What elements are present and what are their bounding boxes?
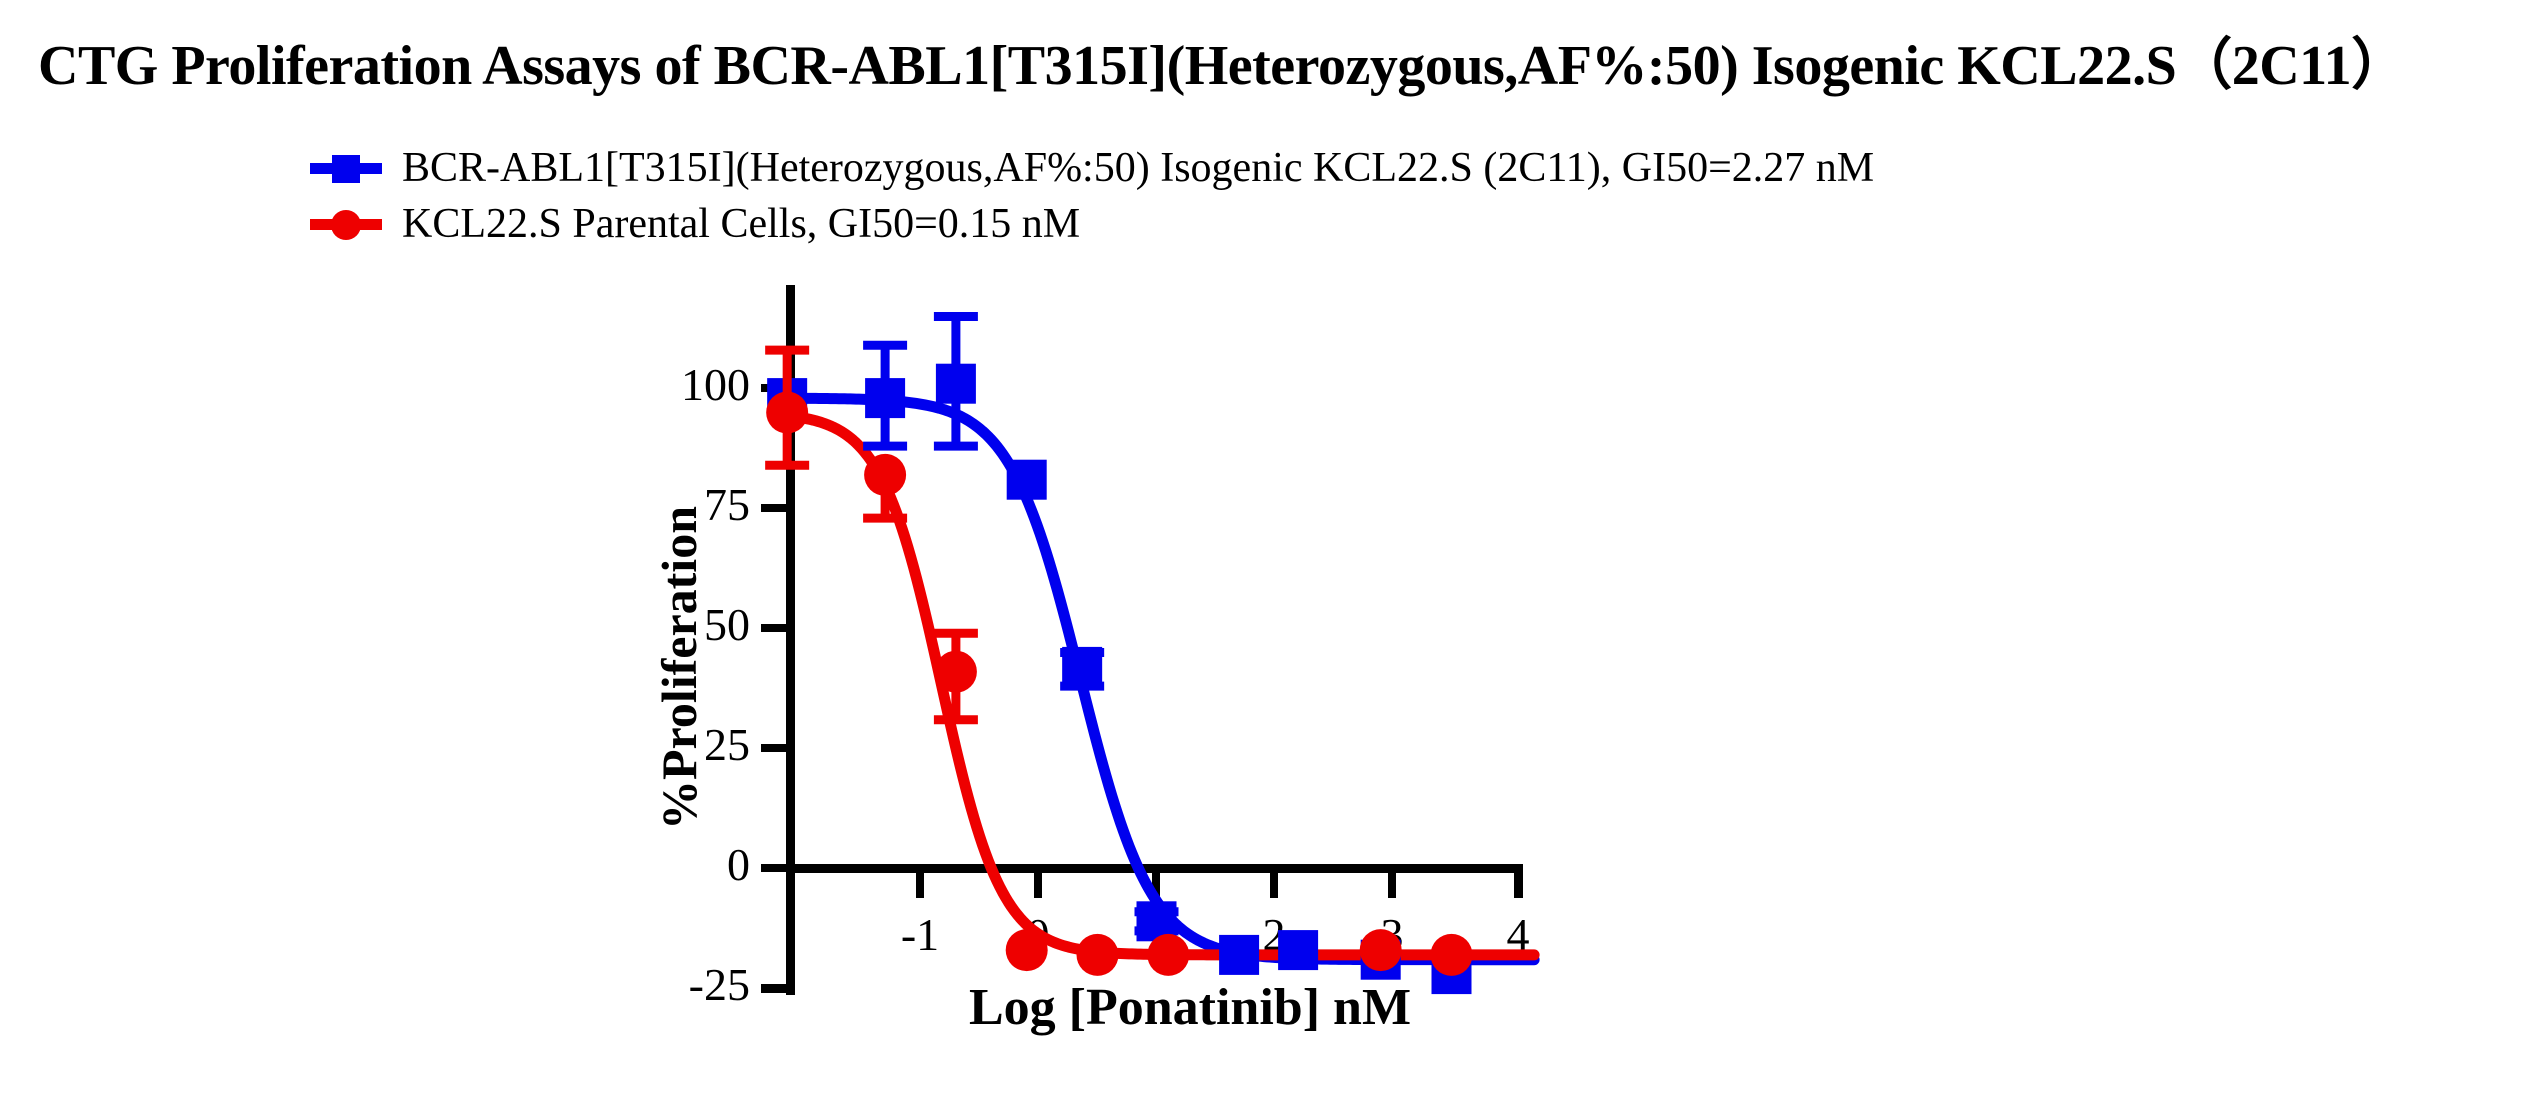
fit-curve-1 [787, 416, 1534, 955]
data-point-1-6 [1360, 929, 1402, 971]
data-point-1-2 [935, 651, 977, 693]
data-point-0-4 [1062, 647, 1102, 687]
data-point-1-1 [864, 454, 906, 496]
data-point-1-5 [1147, 934, 1189, 976]
data-point-1-0 [766, 392, 808, 434]
data-point-0-2 [936, 364, 976, 404]
data-point-0-1 [865, 378, 905, 418]
data-point-1-3 [1006, 929, 1048, 971]
chart-figure: CTG Proliferation Assays of BCR-ABL1[T31… [0, 0, 2526, 1105]
data-point-1-4 [1077, 934, 1119, 976]
plot-area [0, 0, 2526, 1105]
data-point-0-6 [1219, 935, 1259, 975]
data-point-0-3 [1007, 460, 1047, 500]
data-point-1-7 [1431, 934, 1473, 976]
data-point-0-7 [1278, 930, 1318, 970]
